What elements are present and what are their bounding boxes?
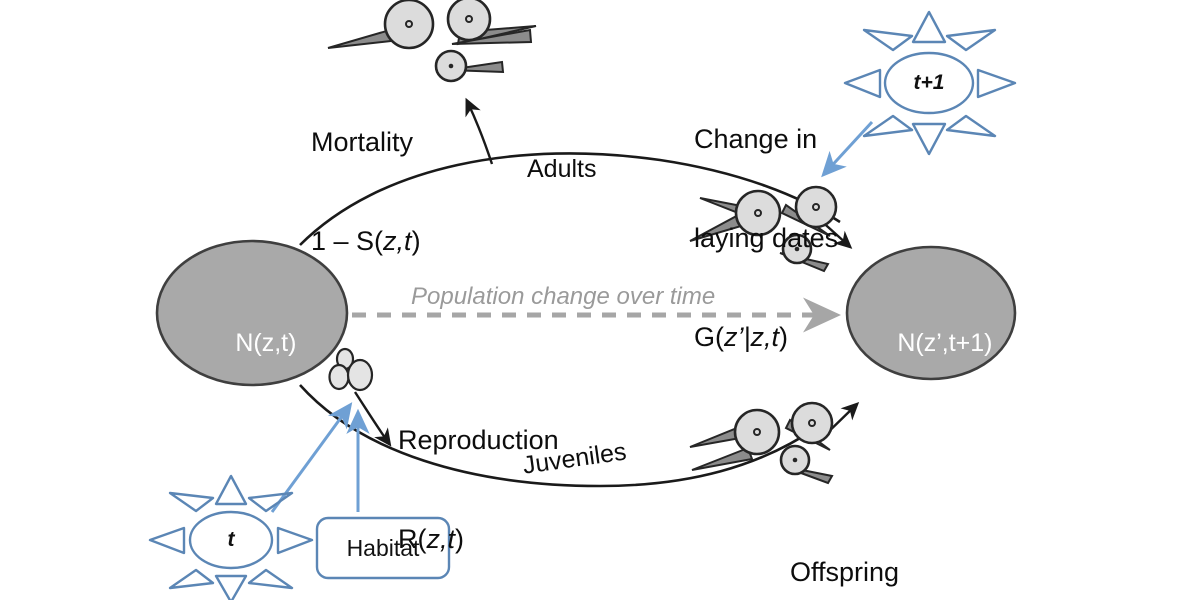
population-node-right-label: N(z’,t+1) [851,300,1011,387]
laying-dates-line-3: G(z’|z,t) [694,321,838,354]
mortality-line-1: Mortality [311,126,421,159]
mortality-line-2: 1 – S(z,t) [311,225,421,258]
mortality-arrow [468,103,492,164]
reproduction-annotation: Reproduction R(z,t) [398,358,559,600]
mortality-annotation: Mortality 1 – S(z,t) [311,60,421,324]
reproduction-line-1: Reproduction [398,424,559,457]
offspring-development-annotation: Offspring development D(z’|z,t) [790,490,945,600]
diagram-canvas: N(z,t) N(z’,t+1) Population change over … [0,0,1200,600]
population-change-label: Population change over time [411,283,715,311]
sun-t1-label: t+1 [889,71,969,95]
laying-dates-line-1: Change in [694,123,838,156]
change-laying-dates-annotation: Change in laying dates G(z’|z,t) [694,57,838,420]
egg-cluster-icon [330,349,373,390]
population-node-left-label: N(z,t) [172,300,332,387]
offspring-line-1: Offspring [790,556,945,589]
laying-dates-line-2: laying dates [694,222,838,255]
adults-label: Adults [527,155,596,184]
reproduction-arrow [355,392,388,442]
sun-t-label: t [191,528,271,552]
habitat-label[interactable]: Habitat [317,535,449,562]
sun-t-influence-arrow [272,408,348,512]
